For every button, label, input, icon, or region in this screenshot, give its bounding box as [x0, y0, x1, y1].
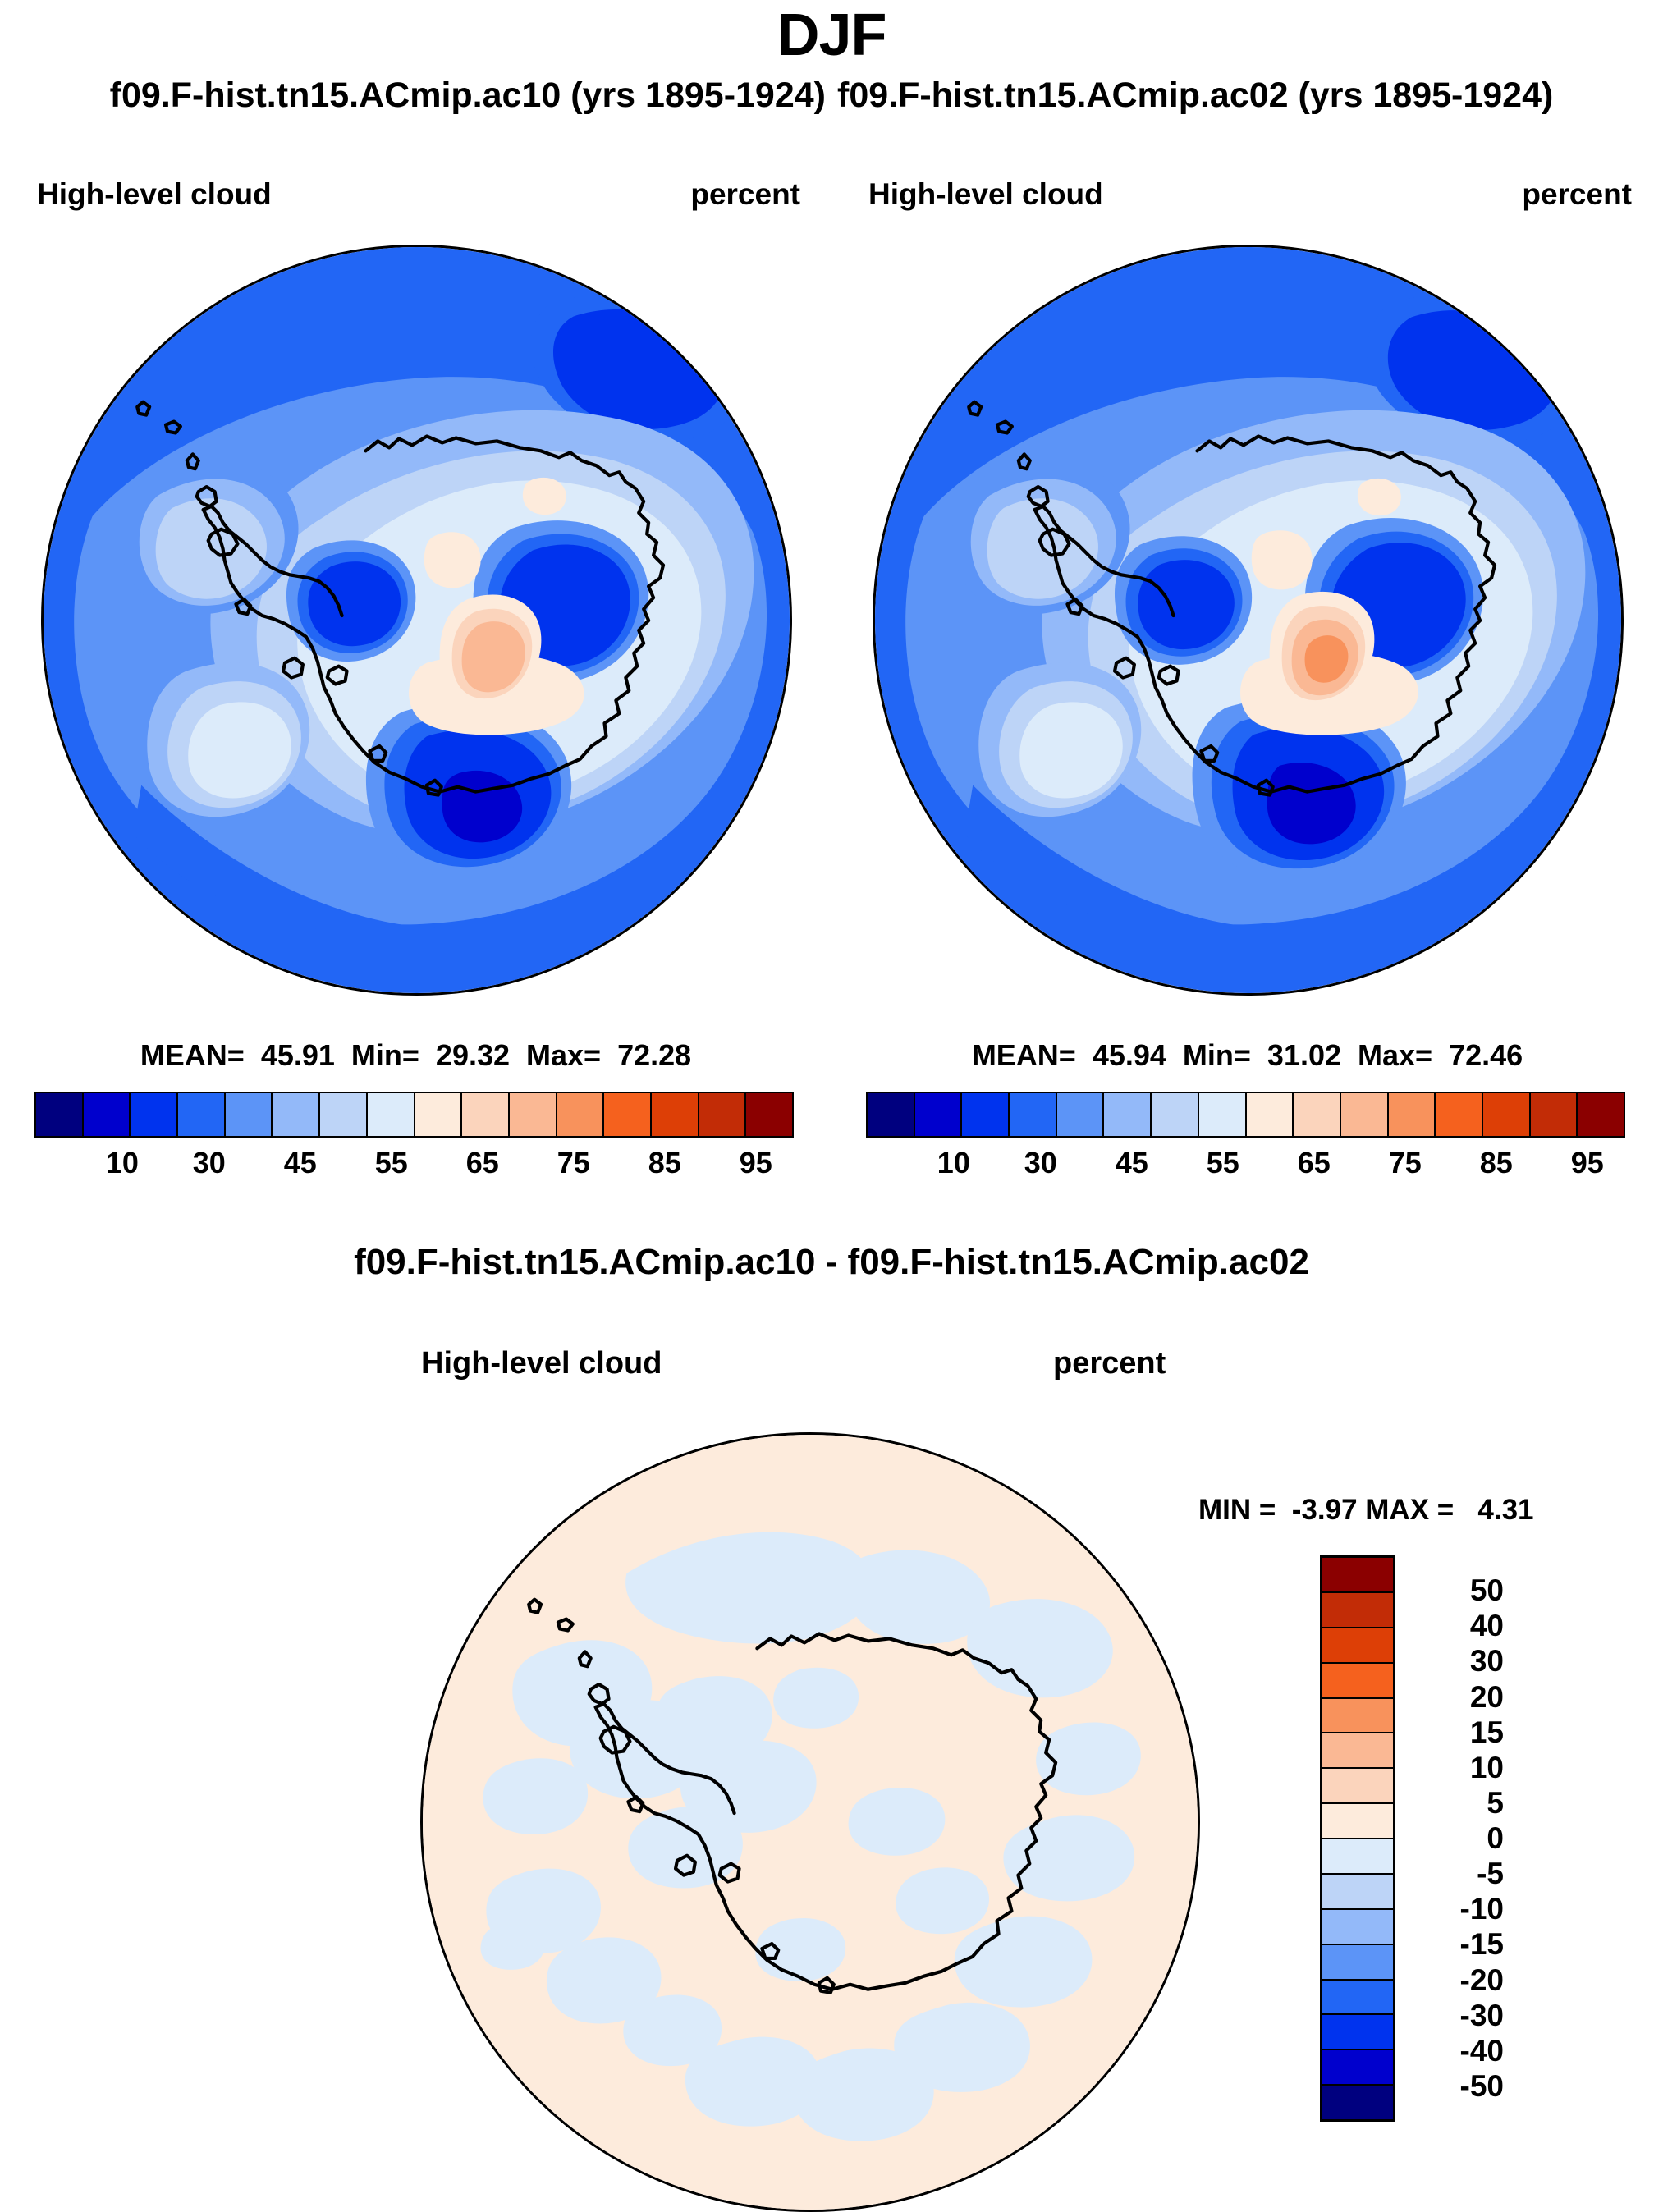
colorbar-cell	[1322, 1733, 1393, 1769]
panel-ac02-header: High-level cloud percent	[831, 172, 1663, 222]
case-title-right: f09.F-hist.tn15.ACmip.ac02 (yrs 1895-192…	[837, 76, 1553, 116]
colorbar-cell	[1389, 1093, 1436, 1136]
colorbar-tick: 5	[1405, 1786, 1504, 1820]
case-title-row: f09.F-hist.tn15.ACmip.ac10 (yrs 1895-192…	[0, 76, 1663, 116]
colorbar-cell	[1247, 1093, 1294, 1136]
colorbar-tick: 15	[1405, 1715, 1504, 1750]
colorbar-tick: 10	[106, 1146, 139, 1180]
panel-difference-globe	[420, 1432, 1200, 2212]
panel-ac10-contour-svg	[44, 247, 790, 993]
colorbar-cell	[1322, 2086, 1393, 2119]
colorbar-cell	[36, 1093, 84, 1136]
panel-ac10-units-label: percent	[690, 177, 800, 212]
panel-ac02-colorbar-labels: 10 30 45 55 65 75 85 95	[866, 1146, 1625, 1187]
colorbar-tick: -5	[1405, 1857, 1504, 1891]
panel-ac02-contour-svg	[875, 247, 1621, 993]
difference-title: f09.F-hist.tn15.ACmip.ac10 - f09.F-hist.…	[0, 1242, 1663, 1283]
panel-ac02-units-label: percent	[1522, 177, 1632, 212]
panel-ac10-colorbar	[34, 1092, 794, 1138]
colorbar-cell	[178, 1093, 226, 1136]
colorbar-tick: -20	[1405, 1963, 1504, 1998]
colorbar-cell	[1104, 1093, 1152, 1136]
colorbar-cell	[746, 1093, 792, 1136]
colorbar-tick: 85	[1480, 1146, 1513, 1180]
colorbar-cell	[1322, 1664, 1393, 1699]
colorbar-tick: -50	[1405, 2069, 1504, 2104]
panel-difference-variable-label: High-level cloud	[421, 1346, 662, 1381]
colorbar-tick: 75	[557, 1146, 590, 1180]
colorbar-cell	[1578, 1093, 1624, 1136]
colorbar-cell	[962, 1093, 1010, 1136]
colorbar-cell	[273, 1093, 320, 1136]
colorbar-cell	[652, 1093, 699, 1136]
colorbar-tick: 30	[193, 1146, 226, 1180]
colorbar-cell	[510, 1093, 557, 1136]
panel-ac10-stats: MEAN= 45.91 Min= 29.32 Max= 72.28	[0, 1038, 831, 1073]
colorbar-tick: 75	[1389, 1146, 1422, 1180]
colorbar-cell	[1322, 1593, 1393, 1628]
colorbar-cell	[604, 1093, 652, 1136]
panel-ac02-stats: MEAN= 45.94 Min= 31.02 Max= 72.46	[831, 1038, 1663, 1073]
colorbar-cell	[1531, 1093, 1578, 1136]
colorbar-tick: 45	[1116, 1146, 1148, 1180]
panel-difference-colorbar	[1320, 1555, 1395, 2122]
colorbar-cell	[1322, 1981, 1393, 2016]
panel-difference-minmax: MIN = -3.97 MAX = 4.31	[1198, 1494, 1625, 1527]
colorbar-tick: 0	[1405, 1821, 1504, 1856]
colorbar-tick: 30	[1405, 1644, 1504, 1678]
panel-ac02-globe	[873, 245, 1624, 996]
colorbar-tick: 65	[466, 1146, 499, 1180]
page-title: DJF	[0, 2, 1663, 69]
panel-ac10-header: High-level cloud percent	[0, 172, 831, 222]
colorbar-cell	[1010, 1093, 1057, 1136]
colorbar-tick: 50	[1405, 1573, 1504, 1608]
colorbar-tick: 55	[1207, 1146, 1239, 1180]
colorbar-cell	[1322, 1558, 1393, 1593]
colorbar-cell	[699, 1093, 747, 1136]
panel-ac02-map	[873, 245, 1624, 996]
colorbar-cell	[415, 1093, 463, 1136]
panel-ac10-globe	[41, 245, 792, 996]
colorbar-tick: 20	[1405, 1680, 1504, 1715]
colorbar-tick: 45	[284, 1146, 317, 1180]
colorbar-cell	[1294, 1093, 1341, 1136]
colorbar-cell	[1322, 2050, 1393, 2086]
panel-difference-contour-svg	[423, 1435, 1198, 2210]
colorbar-tick: 55	[375, 1146, 408, 1180]
case-title-left: f09.F-hist.tn15.ACmip.ac10 (yrs 1895-192…	[110, 76, 826, 116]
colorbar-tick: 10	[937, 1146, 970, 1180]
colorbar-cell	[320, 1093, 368, 1136]
colorbar-tick: 65	[1298, 1146, 1331, 1180]
colorbar-cell	[1322, 1839, 1393, 1875]
colorbar-cell	[1322, 1804, 1393, 1839]
colorbar-cell	[368, 1093, 415, 1136]
colorbar-cell	[84, 1093, 131, 1136]
panel-difference-map	[420, 1432, 1200, 2212]
figure-root: DJF f09.F-hist.tn15.ACmip.ac10 (yrs 1895…	[0, 0, 1663, 2210]
panel-ac10-variable-label: High-level cloud	[37, 177, 272, 212]
panel-ac10-map	[41, 245, 792, 996]
panel-ac10: High-level cloud percent	[0, 172, 831, 1239]
colorbar-cell	[868, 1093, 915, 1136]
colorbar-cell	[1322, 1699, 1393, 1734]
colorbar-cell	[1483, 1093, 1531, 1136]
colorbar-cell	[226, 1093, 273, 1136]
colorbar-cell	[1341, 1093, 1389, 1136]
colorbar-tick: -40	[1405, 2034, 1504, 2068]
colorbar-cell	[1436, 1093, 1483, 1136]
colorbar-cell	[1322, 1769, 1393, 1804]
panel-ac10-colorbar-labels: 10 30 45 55 65 75 85 95	[34, 1146, 794, 1187]
panel-ac02-variable-label: High-level cloud	[868, 177, 1103, 212]
panel-ac02: High-level cloud percent	[831, 172, 1663, 1239]
colorbar-cell	[1322, 1945, 1393, 1981]
panel-difference-colorbar-labels: 50 40 30 20 15 10 5 0 -5 -10 -15 -20 -30…	[1405, 1555, 1545, 2122]
colorbar-cell	[557, 1093, 605, 1136]
colorbar-tick: 95	[1571, 1146, 1604, 1180]
colorbar-tick: 85	[648, 1146, 681, 1180]
colorbar-cell	[462, 1093, 510, 1136]
colorbar-tick: -30	[1405, 1999, 1504, 2033]
colorbar-tick: -15	[1405, 1927, 1504, 1962]
colorbar-tick: 40	[1405, 1609, 1504, 1643]
colorbar-tick: 10	[1405, 1751, 1504, 1785]
colorbar-cell	[1057, 1093, 1105, 1136]
colorbar-cell	[1322, 1910, 1393, 1945]
colorbar-cell	[1199, 1093, 1247, 1136]
panel-ac02-colorbar	[866, 1092, 1625, 1138]
colorbar-cell	[1322, 2015, 1393, 2050]
colorbar-tick: 30	[1024, 1146, 1057, 1180]
colorbar-cell	[1152, 1093, 1199, 1136]
colorbar-cell	[131, 1093, 178, 1136]
colorbar-cell	[1322, 1628, 1393, 1664]
colorbar-cell	[915, 1093, 963, 1136]
colorbar-cell	[1322, 1875, 1393, 1910]
colorbar-tick: 95	[740, 1146, 772, 1180]
colorbar-tick: -10	[1405, 1892, 1504, 1926]
panel-difference-units-label: percent	[1053, 1346, 1166, 1381]
panel-difference: High-level cloud percent MIN = -3.97 MAX…	[0, 1346, 1663, 2210]
